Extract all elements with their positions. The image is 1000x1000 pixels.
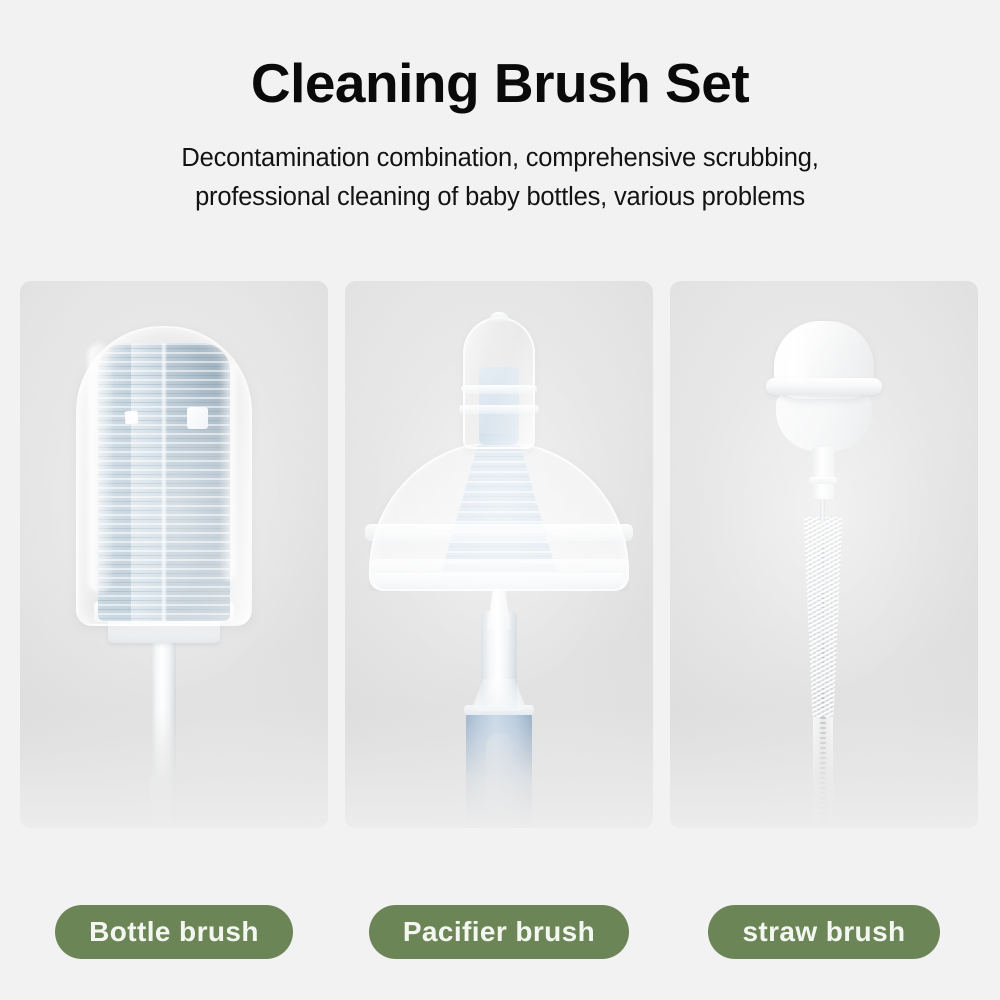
pacifier-brush-photo: [345, 281, 653, 828]
straw-brush-cap-lower: [776, 391, 872, 451]
product-panel-straw-brush[interactable]: [670, 281, 978, 828]
label-pacifier-brush[interactable]: Pacifier brush: [369, 905, 629, 959]
dome-rim-upper: [365, 524, 633, 541]
page-subtitle: Decontamination combination, comprehensi…: [0, 139, 1000, 217]
product-labels: Bottle brush Pacifier brush straw brush: [20, 903, 980, 961]
wire-top-segment: [820, 496, 825, 522]
product-panels: [20, 281, 980, 828]
nipple-ring-lower: [459, 405, 539, 414]
label-cell-pacifier-brush: Pacifier brush: [345, 903, 653, 961]
page-title: Cleaning Brush Set: [0, 55, 1000, 113]
pacifier-nipple-tip: [463, 317, 535, 449]
subtitle-line-2: professional cleaning of baby bottles, v…: [0, 178, 1000, 217]
nipple-vent-nub: [489, 312, 509, 322]
label-cell-bottle-brush: Bottle brush: [20, 903, 328, 961]
label-straw-brush[interactable]: straw brush: [708, 905, 939, 959]
bottle-brush-handle-curve: [150, 776, 214, 828]
straw-brush-bristle-section: [801, 517, 845, 717]
label-bottle-brush[interactable]: Bottle brush: [55, 905, 293, 959]
product-panel-bottle-brush[interactable]: [20, 281, 328, 828]
stem-ring: [809, 477, 837, 484]
bottle-brush-photo: [20, 281, 328, 828]
nipple-ring-upper: [461, 385, 537, 394]
neck-flare: [471, 679, 527, 711]
header: Cleaning Brush Set Decontamination combi…: [0, 0, 1000, 216]
label-cell-straw-brush: straw brush: [670, 903, 978, 961]
bristle-texture: [801, 517, 845, 717]
dome-base: [375, 573, 623, 589]
handle-grip-inset: [486, 733, 514, 828]
cap-highlight: [788, 333, 810, 385]
straw-brush-photo: [670, 281, 978, 828]
straw-brush-stem: [812, 447, 834, 499]
subtitle-line-1: Decontamination combination, comprehensi…: [0, 139, 1000, 178]
cap-gloss-right: [220, 361, 236, 581]
cap-gloss-left: [88, 343, 112, 593]
shaft-sheen: [813, 711, 833, 828]
product-panel-pacifier-brush[interactable]: [345, 281, 653, 828]
cap-flange: [766, 378, 882, 395]
